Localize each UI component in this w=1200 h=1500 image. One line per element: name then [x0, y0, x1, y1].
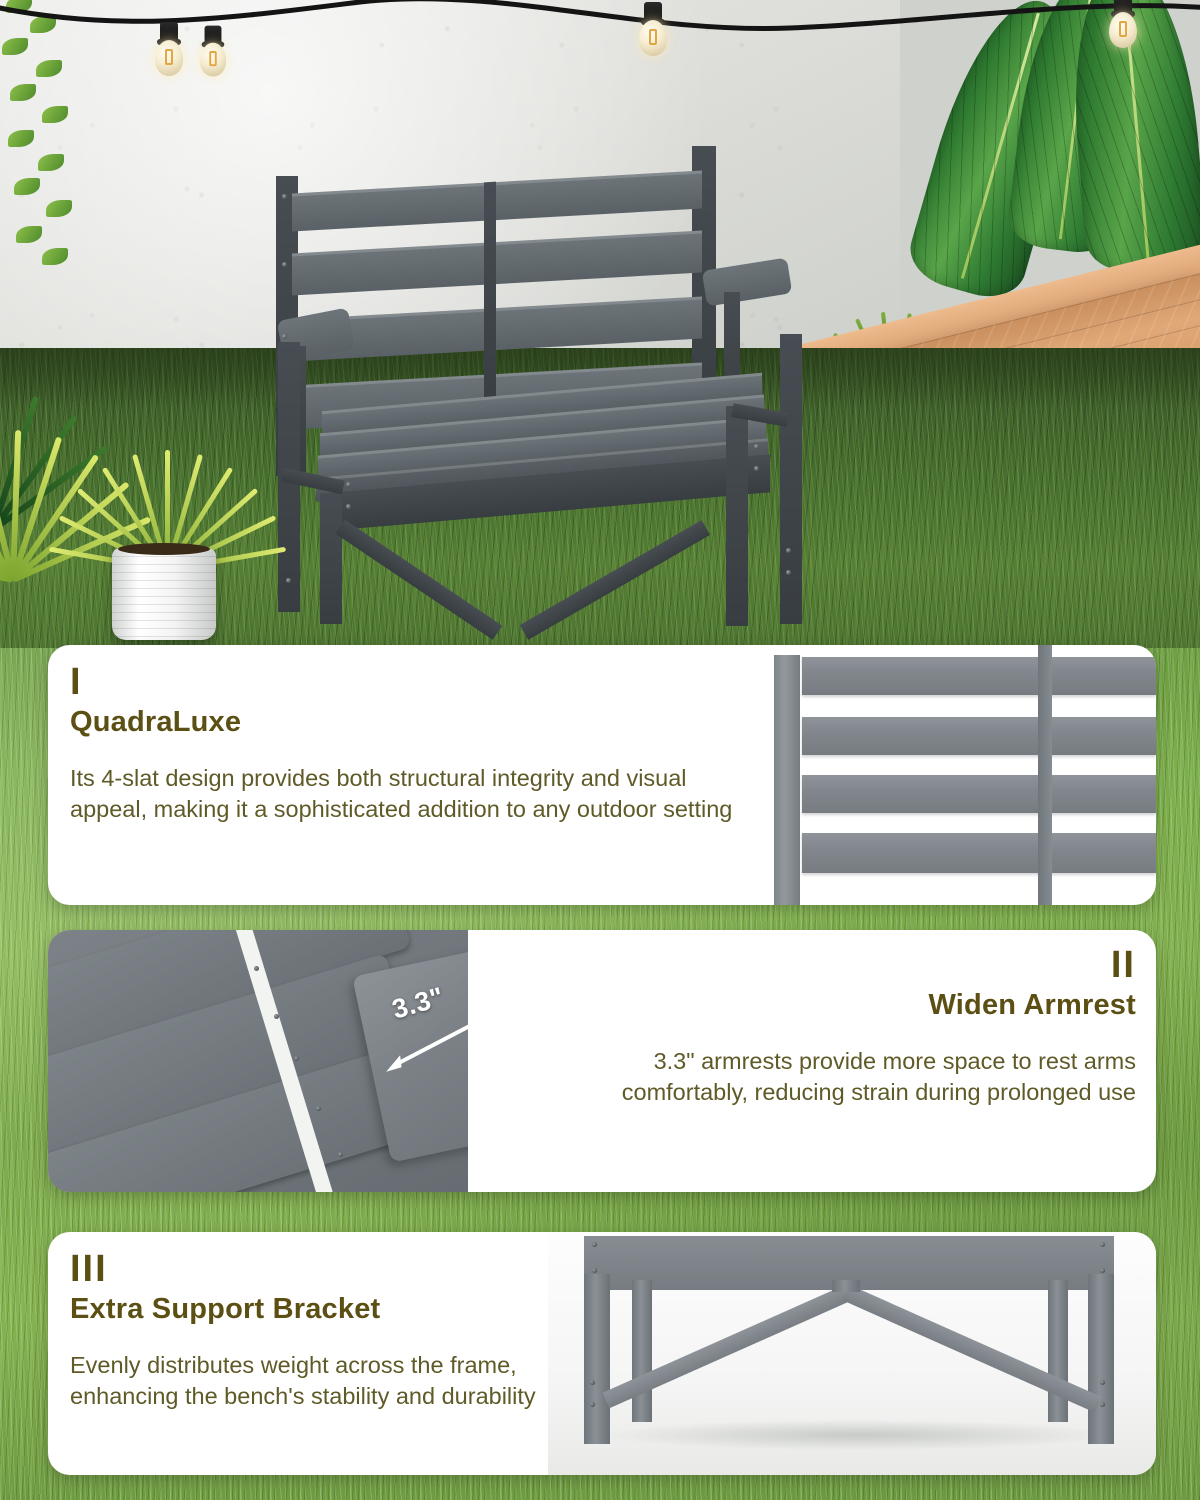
bench-support-bracket-left: [335, 519, 502, 639]
bench-back-center-stile: [484, 182, 496, 423]
bench-leg-front-right: [726, 406, 748, 626]
feature-2-numeral: II: [608, 946, 1136, 984]
backrest-post: [774, 655, 800, 905]
screw-icon: [592, 1268, 597, 1273]
bench-leg-rear-left: [320, 494, 342, 624]
bench-back-slat-2: [292, 231, 702, 296]
screw-icon: [590, 1380, 595, 1385]
armrest-width-closeup: 3.3": [48, 930, 468, 1192]
support-bracket-underside: [548, 1232, 1156, 1475]
screw-icon: [346, 482, 351, 487]
feature-2-text-block: II Widen Armrest 3.3" armrests provide m…: [608, 946, 1136, 1108]
feature-1-body: Its 4-slat design provides both structur…: [70, 763, 750, 826]
potted-palm-foliage: [60, 390, 320, 570]
light-bulb-icon: [1106, 0, 1140, 50]
screw-icon: [282, 262, 287, 267]
inset-slat-3: [802, 775, 1156, 813]
feature-3-body: Evenly distributes weight across the fra…: [70, 1350, 570, 1413]
light-bulb-icon: [152, 22, 186, 78]
light-bulb-icon: [636, 2, 670, 58]
feature-1-text-block: I QuadraLuxe Its 4-slat design provides …: [70, 663, 750, 825]
screw-icon: [338, 1152, 343, 1157]
screw-icon: [1100, 1402, 1105, 1407]
bench-ground-shadow: [608, 1420, 1108, 1450]
screw-icon: [754, 444, 759, 449]
bench-back-slat-1: [292, 171, 702, 232]
feature-1-title: QuadraLuxe: [70, 707, 750, 739]
feature-1-numeral: I: [70, 663, 750, 701]
screw-icon: [286, 578, 291, 583]
four-slat-backrest-closeup: [760, 645, 1156, 905]
bracket-leg-inner-right: [1048, 1280, 1068, 1422]
edison-bulb-string-lights: [0, 0, 1200, 90]
light-bulb-icon: [197, 26, 229, 79]
screw-icon: [282, 194, 287, 199]
screw-icon: [1100, 1268, 1105, 1273]
feature-card-quadraluxe: I QuadraLuxe Its 4-slat design provides …: [48, 645, 1156, 905]
feature-2-title: Widen Armrest: [608, 990, 1136, 1022]
screw-icon: [1100, 1242, 1105, 1247]
inset-slat-1: [802, 657, 1156, 695]
screw-icon: [786, 548, 791, 553]
screw-icon: [346, 504, 351, 509]
infographic-page: I QuadraLuxe Its 4-slat design provides …: [0, 0, 1200, 1500]
screw-icon: [786, 570, 791, 575]
screw-icon: [592, 1242, 597, 1247]
bench-leg-rear-right: [780, 334, 802, 624]
bracket-leg-outer-left: [584, 1274, 610, 1444]
screw-icon: [274, 1014, 279, 1019]
feature-3-numeral: III: [70, 1250, 570, 1288]
screw-icon: [754, 466, 759, 471]
white-ribbed-planter: [112, 548, 216, 640]
screw-icon: [316, 1106, 321, 1111]
bench-back-slat-3: [292, 297, 702, 362]
screw-icon: [294, 1056, 299, 1061]
feature-2-body: 3.3" armrests provide more space to rest…: [608, 1046, 1136, 1109]
bracket-leg-inner-left: [632, 1280, 652, 1422]
inset-slat-2: [802, 717, 1156, 755]
feature-card-support-bracket: III Extra Support Bracket Evenly distrib…: [48, 1232, 1156, 1475]
bench-support-bracket-right: [520, 520, 710, 640]
hero-product-photo: [0, 0, 1200, 648]
bracket-leg-outer-right: [1088, 1274, 1114, 1444]
screw-icon: [1100, 1380, 1105, 1385]
backrest-center-stile: [1038, 645, 1052, 905]
feature-card-widen-armrest: 3.3" II Widen Armrest 3.3" armrests prov…: [48, 930, 1156, 1192]
brace-center-joint: [832, 1280, 860, 1292]
screw-icon: [282, 334, 287, 339]
feature-3-title: Extra Support Bracket: [70, 1294, 570, 1326]
screw-icon: [254, 966, 259, 971]
inset-slat-4: [802, 833, 1156, 873]
screw-icon: [590, 1402, 595, 1407]
feature-3-text-block: III Extra Support Bracket Evenly distrib…: [70, 1250, 570, 1412]
gray-slat-garden-bench: [262, 146, 822, 626]
